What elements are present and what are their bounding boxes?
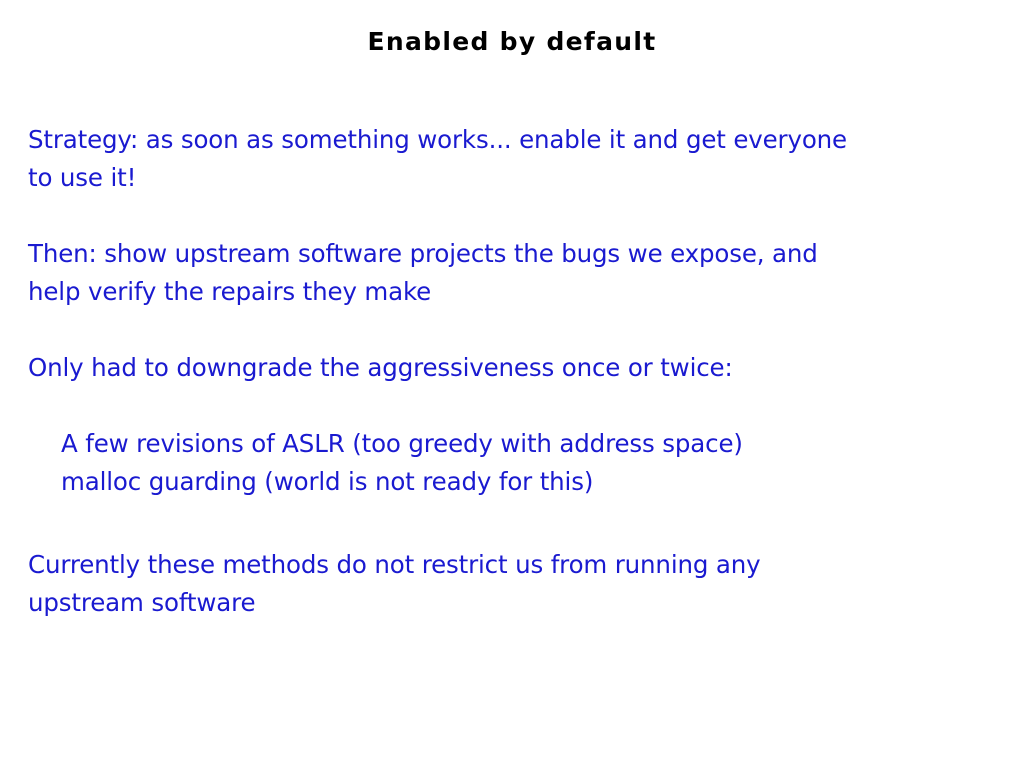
slide-body: Strategy: as soon as something works... … <box>28 121 988 622</box>
paragraph-line: upstream software <box>28 584 988 622</box>
page-title: Enabled by default <box>0 27 1024 57</box>
paragraph-line: help verify the repairs they make <box>28 273 988 311</box>
paragraph-downgrade: Only had to downgrade the aggressiveness… <box>28 349 988 387</box>
paragraph-line: Only had to downgrade the aggressiveness… <box>28 349 988 387</box>
paragraph-currently: Currently these methods do not restrict … <box>28 546 988 622</box>
paragraph-then: Then: show upstream software projects th… <box>28 235 988 311</box>
paragraph-line: Then: show upstream software projects th… <box>28 235 988 273</box>
slide-canvas: Enabled by default Strategy: as soon as … <box>0 0 1024 768</box>
paragraph-line: Currently these methods do not restrict … <box>28 546 988 584</box>
paragraph-strategy: Strategy: as soon as something works... … <box>28 121 988 197</box>
paragraph-line: to use it! <box>28 159 988 197</box>
paragraph-examples: A few revisions of ASLR (too greedy with… <box>28 425 988 501</box>
paragraph-line: A few revisions of ASLR (too greedy with… <box>61 425 988 463</box>
paragraph-line: malloc guarding (world is not ready for … <box>61 463 988 501</box>
paragraph-line: Strategy: as soon as something works... … <box>28 121 988 159</box>
